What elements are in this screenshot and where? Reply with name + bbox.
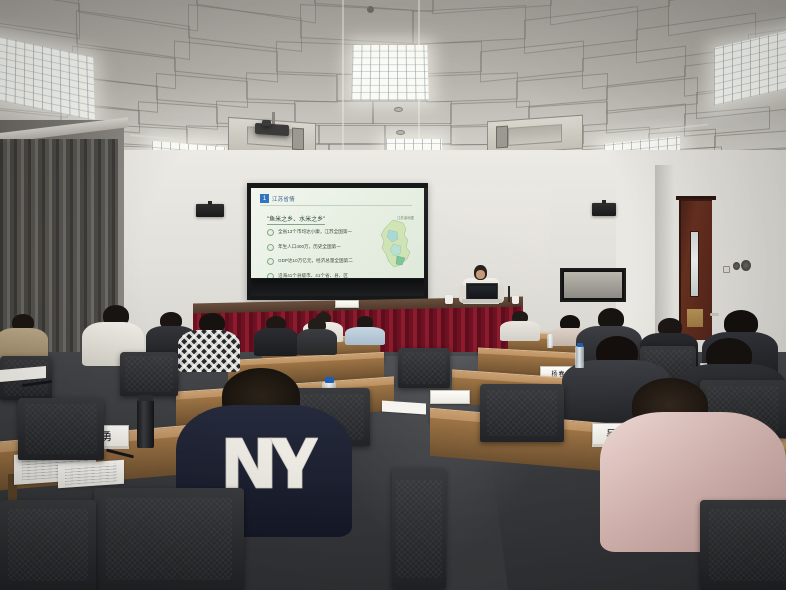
wall-speaker [196,204,224,217]
wall-display-panel [560,268,626,302]
laptop-screen [469,286,496,298]
office-chair[interactable] [398,348,450,388]
province-map-graphic [373,218,415,270]
sprinkler-head [367,6,374,13]
microphone-stand [508,286,510,302]
slide-header-divider [260,205,412,206]
wall-thermostat-knob[interactable] [741,260,751,271]
ceiling-light-panel [351,45,429,100]
nameplate [335,300,359,308]
laptop-keyboard-base[interactable] [462,299,502,303]
water-cup[interactable] [445,295,453,304]
slide-bullet: 全省13个市均达小康，江苏全国第一 [267,229,353,236]
projection-screen: 1 江苏省情 "鱼米之乡、水米之乡" 全省13个市均达小康，江苏全国第一 年生人… [247,183,428,300]
slide-header: 1 江苏省情 [260,194,295,203]
slide-title: "鱼米之乡、水米之乡" [267,214,325,225]
slide-bullet-text: 全省13个市均达小康，江苏全国第一 [278,230,352,235]
ny-logo [212,430,318,496]
slide-bullet: GDP达10万亿元，经济总量全国第二 [267,258,353,265]
screen-bottom-bar [251,279,424,296]
slide-bullet: 沿海41个县级市、41个省、县、区 [267,273,353,279]
bullet-marker-icon [267,258,274,265]
water-bottle[interactable] [547,334,553,348]
slide-bullet-text: GDP达10万亿元，经济总量全国第二 [278,259,353,264]
projector-lens [262,120,271,126]
wall-corner-shadow [655,165,675,340]
slide-header-badge: 1 [260,194,269,203]
slide-bullet-list: 全省13个市均达小康，江苏全国第一 年生人口400万，历史全国第一 GDP达10… [267,229,353,278]
slide-bullet-text: 年生人口400万，历史全国第一 [278,245,341,250]
water-cup[interactable] [512,296,519,304]
bullet-marker-icon [267,229,274,236]
bullet-marker-icon [267,244,274,251]
projector [255,123,289,136]
office-chair-foreground[interactable] [0,500,96,590]
office-chair[interactable] [120,352,178,396]
office-chair-foreground[interactable] [700,500,786,590]
thermos-flask[interactable] [137,400,154,448]
presenter-laptop[interactable] [466,283,498,300]
nameplate-row2-right [430,390,470,404]
office-chair-foreground[interactable] [392,468,446,590]
door-glass-panel [690,231,699,297]
wall-speaker [592,203,616,216]
presenter-face [476,270,485,279]
door-push-plate [687,309,703,327]
door-handle[interactable] [710,313,719,316]
office-chair[interactable] [480,384,564,442]
slide-header-text: 江苏省情 [272,195,295,203]
slide-bullet: 年生人口400万，历史全国第一 [267,244,353,251]
office-chair[interactable] [18,398,104,460]
smoke-detector [394,107,403,112]
bullet-marker-icon [267,273,274,279]
classroom-photo: 1 江苏省情 "鱼米之乡、水米之乡" 全省13个市均达小康，江苏全国第一 年生人… [0,0,786,590]
room-door[interactable] [679,199,712,340]
notebook-page[interactable] [58,460,124,489]
office-chair-foreground[interactable] [94,488,244,590]
water-bottle[interactable] [575,346,584,368]
wall-socket[interactable] [723,266,730,273]
slide-bullet-text: 沿海41个县级市、41个省、县、区 [278,274,348,278]
smoke-detector [396,130,405,135]
slide-surface: 1 江苏省情 "鱼米之乡、水米之乡" 全省13个市均达小康，江苏全国第一 年生人… [251,188,424,278]
wall-thermostat-knob[interactable] [733,262,740,270]
